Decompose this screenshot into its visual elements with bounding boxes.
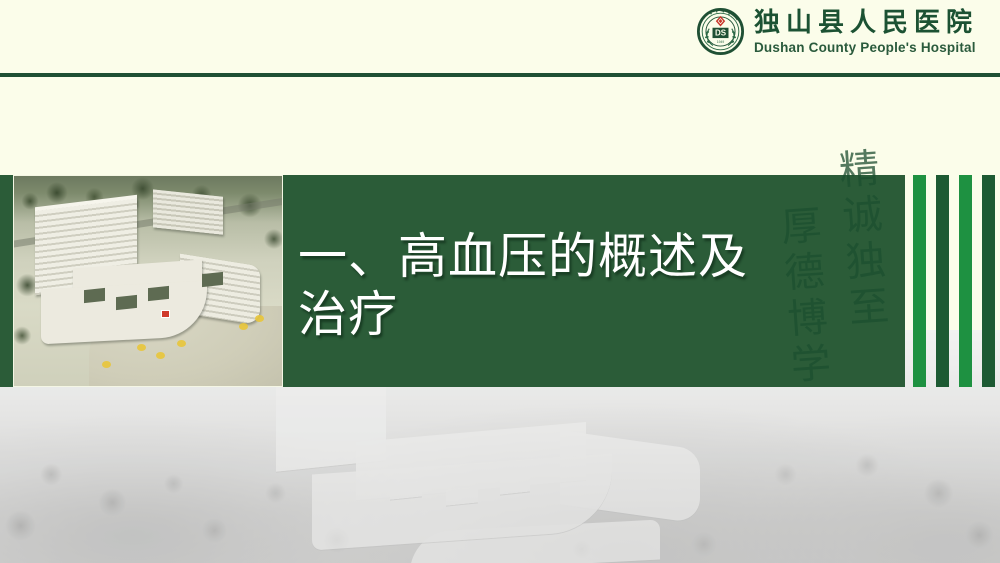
header-divider-rule bbox=[0, 73, 1000, 77]
slide-title: 一、高血压的概述及治疗 bbox=[298, 228, 768, 344]
svg-text:DS: DS bbox=[715, 29, 727, 38]
hospital-name-block: 独山县人民医院 Dushan County People's Hospital bbox=[754, 8, 978, 55]
hospital-logo: DS 1949 独山县人民医院 Dushan County People's H… bbox=[697, 8, 978, 55]
stripe-4 bbox=[982, 175, 995, 387]
hospital-photo bbox=[13, 175, 283, 387]
stripe-3 bbox=[959, 175, 972, 387]
decorative-stripes bbox=[913, 175, 995, 387]
presentation-slide: 精诚独至 厚德博学 精诚独至 厚德博学 一、高血压的概述及治疗 bbox=[0, 0, 1000, 563]
stripe-2 bbox=[936, 175, 949, 387]
stripe-1 bbox=[913, 175, 926, 387]
svg-text:1949: 1949 bbox=[717, 40, 724, 44]
background-building-mass bbox=[260, 386, 740, 554]
hospital-name-en: Dushan County People's Hospital bbox=[754, 41, 978, 55]
hospital-name-cn: 独山县人民医院 bbox=[754, 10, 978, 36]
hospital-emblem-icon: DS 1949 bbox=[697, 8, 744, 55]
slide-header: DS 1949 独山县人民医院 Dushan County People's H… bbox=[0, 0, 1000, 74]
